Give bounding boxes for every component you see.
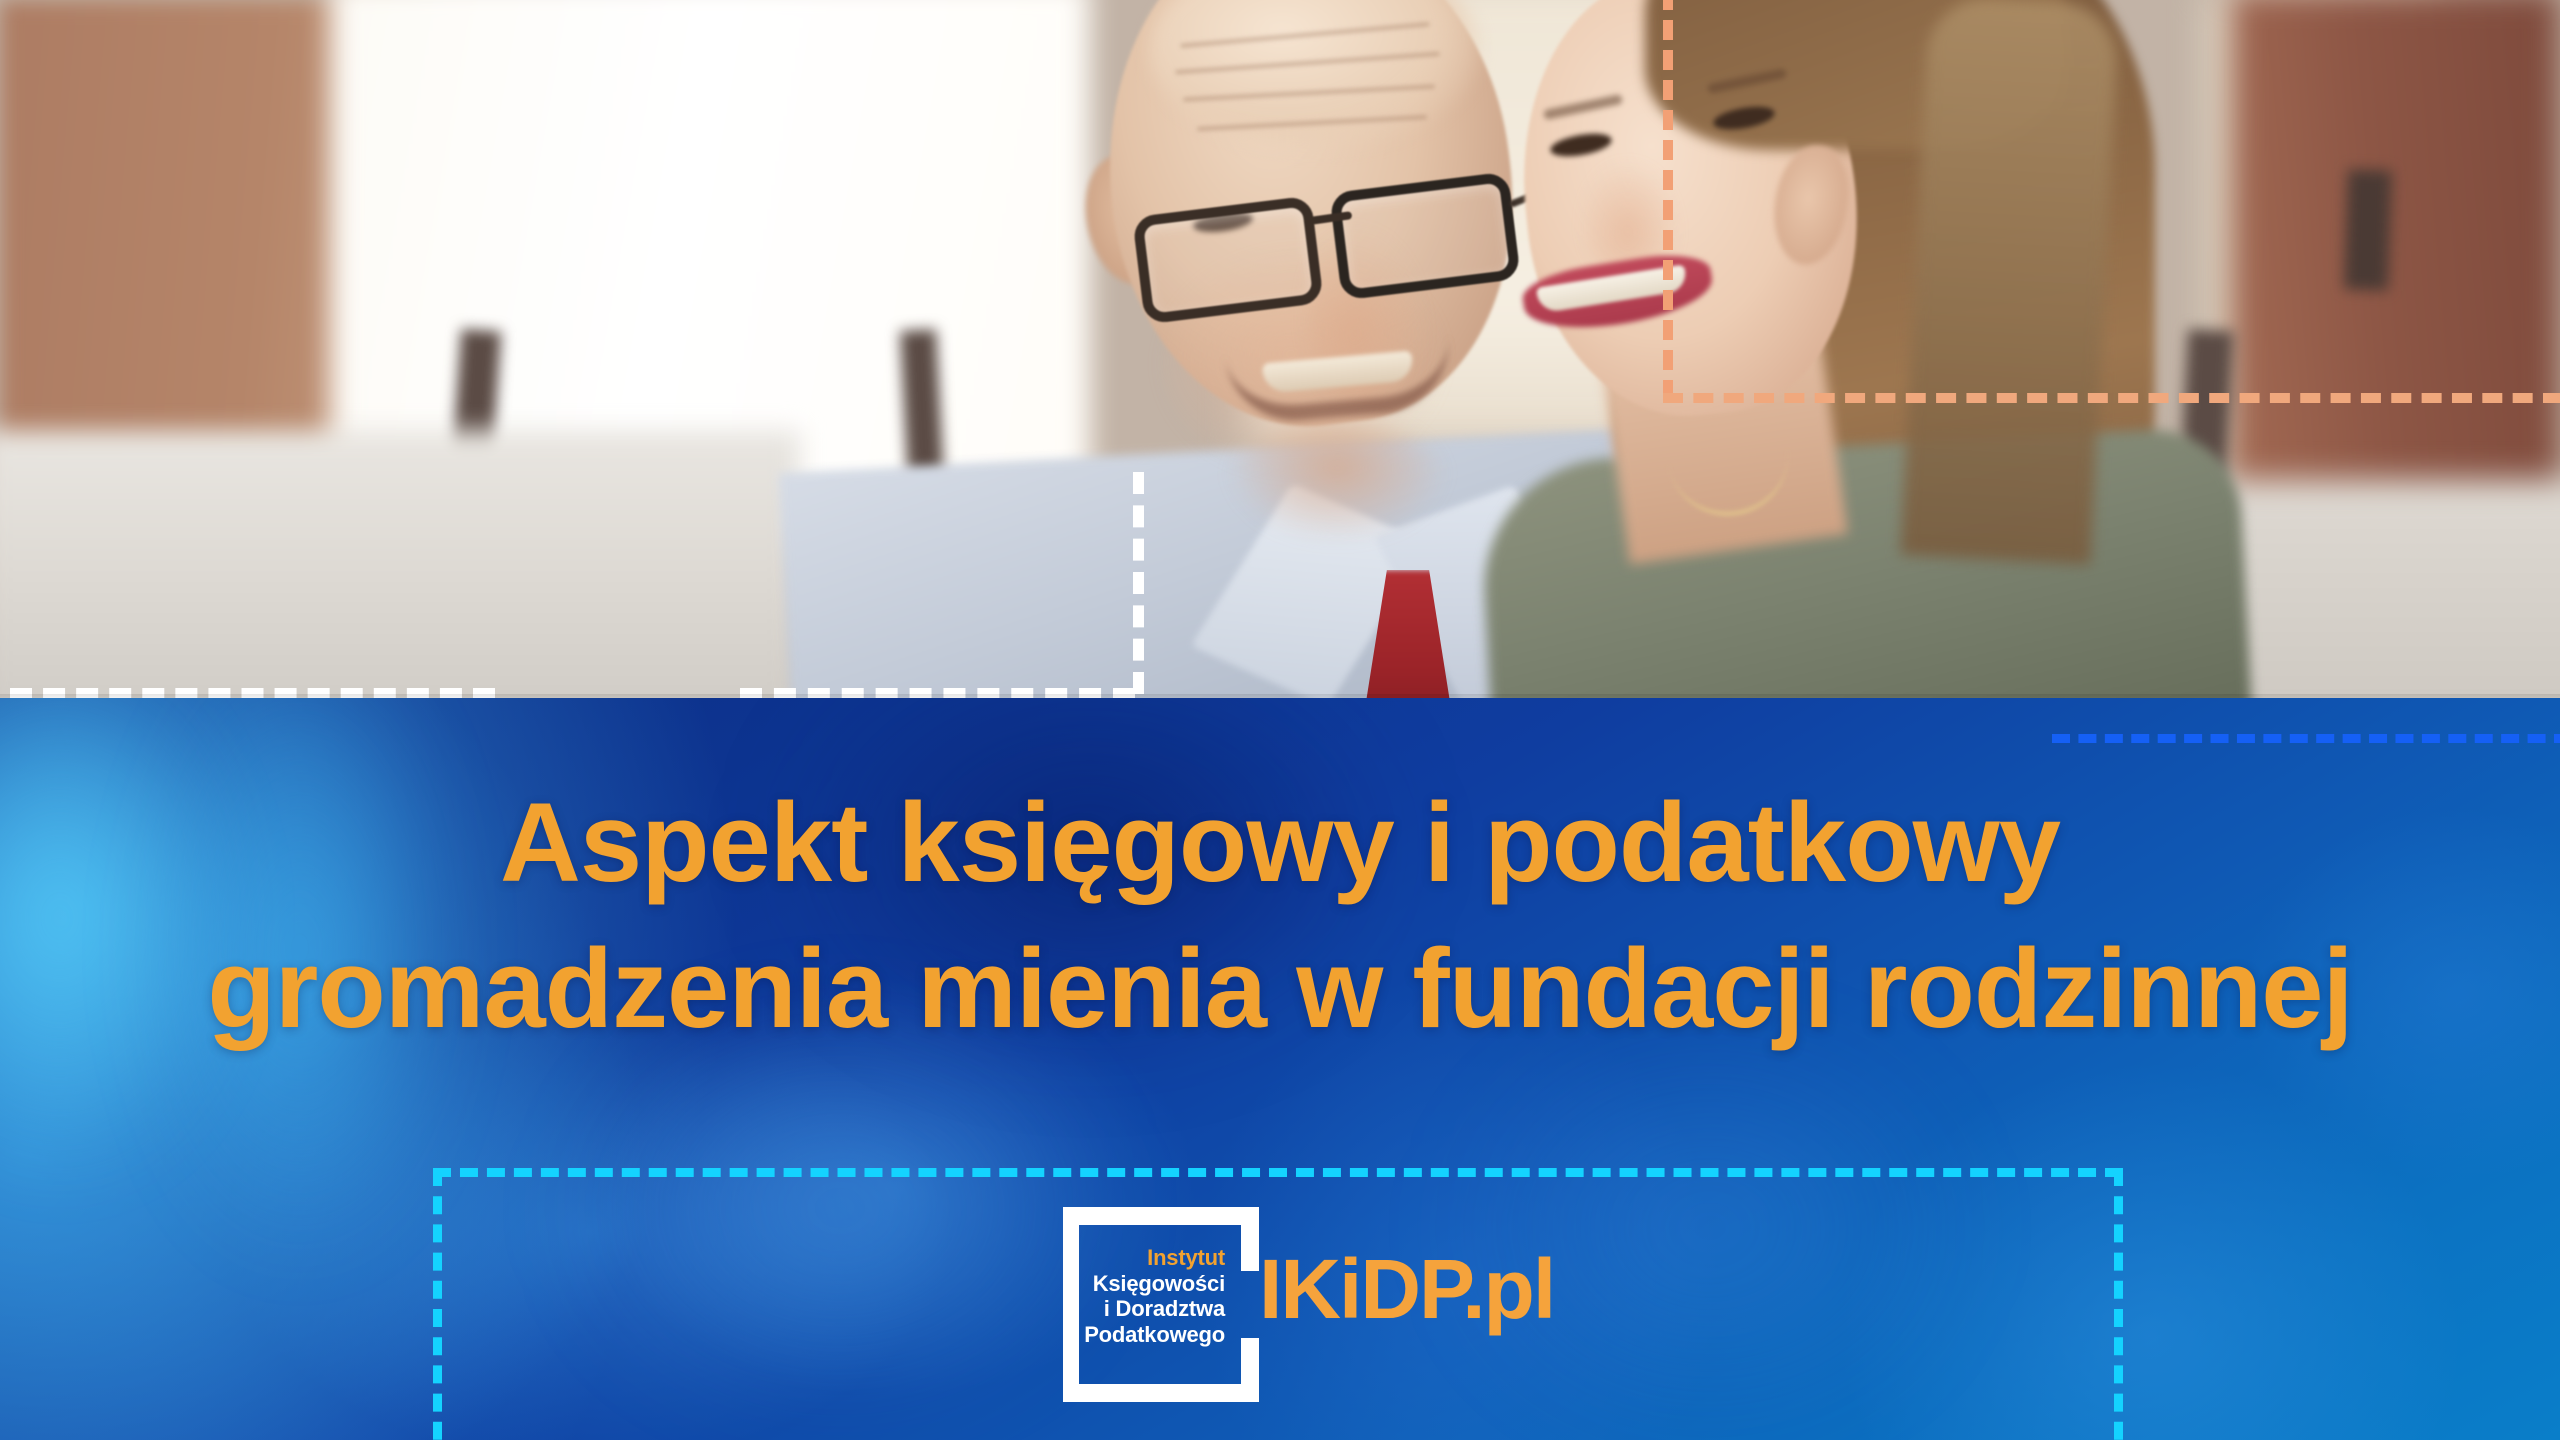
- hero-photo: [0, 0, 2560, 700]
- blue-dashed-line: [2052, 734, 2560, 743]
- banner-stage: Aspekt księgowy i podatkowy gromadzenia …: [0, 0, 2560, 1440]
- logo-domain-text[interactable]: IKiDP.pl: [1259, 1247, 1554, 1331]
- orange-dashed-line-vertical: [1663, 0, 1673, 400]
- chair-post: [2344, 169, 2392, 290]
- title-line-2: gromadzenia mienia w fundacji rodzinnej: [0, 916, 2560, 1062]
- young-woman-figure: [1495, 0, 2235, 700]
- white-dashed-line-vertical: [1133, 472, 1144, 694]
- bracket-right-top: [1241, 1207, 1259, 1271]
- title-line-1: Aspekt księgowy i podatkowy: [0, 770, 2560, 916]
- banner-title: Aspekt księgowy i podatkowy gromadzenia …: [0, 770, 2560, 1061]
- bracket-bottom-bar: [1063, 1384, 1259, 1402]
- orange-dashed-line-horizontal: [1663, 393, 2560, 403]
- logo-word-instytut: Instytut: [1063, 1245, 1225, 1271]
- woman-shoulder: [1478, 425, 2252, 700]
- background-sofa: [0, 430, 800, 700]
- background-wall-right: [2230, 0, 2560, 510]
- logo-institute-name: Instytut Księgowości i Doradztwa Podatko…: [1063, 1245, 1241, 1348]
- eyeglass-lens-right: [1329, 171, 1521, 300]
- woman-hair-strand: [1900, 0, 2119, 565]
- logo-word-doradztwa: i Doradztwa: [1063, 1296, 1225, 1322]
- logo-word-ksiegowosci: Księgowości: [1063, 1271, 1225, 1297]
- ikidp-logo[interactable]: Instytut Księgowości i Doradztwa Podatko…: [1063, 1207, 1703, 1402]
- eyeglass-lens-left: [1132, 195, 1324, 324]
- bracket-top-bar: [1063, 1207, 1259, 1225]
- bracket-right-bottom: [1241, 1338, 1259, 1402]
- logo-word-podatkowego: Podatkowego: [1063, 1322, 1225, 1348]
- man-chin: [1230, 420, 1445, 540]
